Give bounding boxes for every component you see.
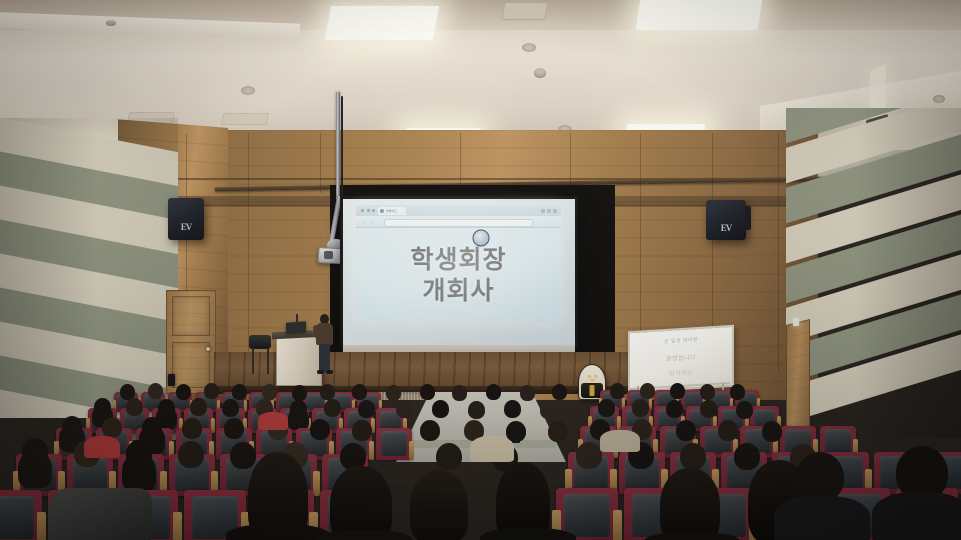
audience-head xyxy=(310,419,330,440)
audience-head xyxy=(224,418,244,439)
audience-head xyxy=(324,399,341,417)
microphone-stand xyxy=(296,314,298,332)
seat[interactable] xyxy=(0,490,42,540)
wood-vertical-seam xyxy=(570,133,571,191)
audience-head xyxy=(292,385,307,401)
ceiling-vent xyxy=(501,2,548,20)
presenter-legs xyxy=(319,344,330,372)
audience-head xyxy=(632,399,649,417)
close-dot-icon[interactable] xyxy=(361,209,364,212)
presenter-shoe xyxy=(326,370,333,374)
door-knob-icon[interactable] xyxy=(206,347,210,351)
whiteboard-line-3: 반가워요 xyxy=(636,367,726,381)
audience-hair xyxy=(288,407,309,430)
audience-hair-foreground xyxy=(410,470,468,540)
ceiling-light xyxy=(325,6,440,40)
left-ev-speaker: EV xyxy=(168,198,204,240)
audience-shoulders-light xyxy=(258,412,288,430)
right-acoustic-wall xyxy=(786,108,961,438)
address-bar[interactable] xyxy=(384,219,533,227)
audience-head xyxy=(386,385,401,401)
seat[interactable] xyxy=(376,428,412,460)
audience-head xyxy=(178,441,204,468)
audience-head xyxy=(540,401,557,419)
audience-shoulders xyxy=(872,492,961,540)
auditorium-scene: EV EV 슬라이드 xyxy=(0,0,961,540)
ev-logo-left: EV xyxy=(168,222,204,232)
maximize-dot-icon[interactable] xyxy=(372,209,375,212)
audience-head xyxy=(126,398,143,416)
audience-head xyxy=(676,420,696,441)
audience-head xyxy=(452,385,467,401)
audience-head xyxy=(504,400,521,418)
phone-icon xyxy=(168,374,175,386)
phone-icon xyxy=(512,430,520,443)
favicon-icon xyxy=(380,209,384,213)
audience-head xyxy=(432,400,449,418)
audience-shoulders-light xyxy=(470,436,514,462)
audience-head xyxy=(176,384,191,400)
audience-head xyxy=(598,399,615,417)
browser-tab-label: 슬라이드 xyxy=(386,210,397,213)
equipment-case-stand xyxy=(252,348,254,374)
audience-head xyxy=(718,420,738,441)
podium-school-emblem xyxy=(472,229,489,246)
audience-head xyxy=(232,384,247,400)
audience-shoulders xyxy=(644,532,740,540)
audience-head xyxy=(468,401,485,419)
browser-tab[interactable]: 슬라이드 xyxy=(378,207,406,215)
right-door-lamp-icon xyxy=(793,318,799,326)
audience-head xyxy=(730,384,745,400)
audience-head xyxy=(734,443,760,470)
minimize-button[interactable] xyxy=(541,209,545,213)
whiteboard-line-1: 신 입생 여러분 xyxy=(636,334,726,348)
right-ev-speaker: EV xyxy=(706,200,746,240)
audience-head xyxy=(230,442,256,469)
ceiling-speaker-icon xyxy=(241,86,255,95)
audience-head xyxy=(358,400,375,418)
ceiling-speaker-icon xyxy=(522,43,536,52)
left-door-panel-upper xyxy=(172,296,210,336)
traffic-lights[interactable] xyxy=(361,209,375,212)
audience-head xyxy=(320,384,335,400)
ceiling-speaker-icon xyxy=(933,95,945,103)
audience-head xyxy=(576,442,602,469)
audience-head xyxy=(552,384,567,400)
draped-coat xyxy=(48,488,152,540)
equipment-case xyxy=(249,335,271,349)
audience-head xyxy=(700,384,715,400)
mascot-tie-icon xyxy=(590,385,595,396)
audience-head xyxy=(640,383,655,399)
audience-head xyxy=(666,400,683,418)
audience-shoulders xyxy=(480,528,576,540)
projector-lens-icon xyxy=(324,251,333,259)
wood-vertical-seam xyxy=(320,133,321,193)
audience-shoulders xyxy=(316,530,412,540)
whiteboard-line-2: 환영합니다 xyxy=(636,352,726,366)
audience-hair xyxy=(122,452,156,492)
audience-shoulders xyxy=(226,524,330,540)
audience-head xyxy=(548,421,568,442)
audience-head xyxy=(486,384,501,400)
wood-vertical-seam xyxy=(460,133,461,191)
close-button[interactable] xyxy=(553,209,557,213)
audience-head xyxy=(352,420,372,441)
projector-pole xyxy=(336,92,340,200)
audience-head-foreground xyxy=(796,452,844,502)
audience-head xyxy=(436,443,462,470)
audience-head xyxy=(148,383,163,399)
equipment-case-stand xyxy=(267,348,269,374)
window-controls[interactable] xyxy=(541,209,557,213)
slide-content: 학생회장 개회사 xyxy=(356,227,561,323)
back-button[interactable]: ‹ xyxy=(363,221,364,224)
projected-browser-window[interactable]: 슬라이드 ‹ › 학생회장 개회사 xyxy=(356,205,561,323)
wood-vertical-seam xyxy=(778,133,779,373)
audience-head xyxy=(520,385,535,401)
audience-head xyxy=(680,443,706,470)
audience-hair-foreground xyxy=(660,468,720,540)
audience-head xyxy=(396,400,413,418)
audience-head xyxy=(182,418,202,439)
mascot-face: ^ᴗ^ xyxy=(588,374,597,383)
audience-head xyxy=(610,383,625,399)
ev-logo-right: EV xyxy=(706,223,746,233)
audience-head xyxy=(102,417,122,438)
audience-head xyxy=(420,420,440,441)
ceiling-light xyxy=(635,0,762,30)
ceiling-sensor-icon xyxy=(534,68,546,78)
audience-shoulders xyxy=(774,496,870,540)
audience-hair-foreground xyxy=(330,466,392,540)
ceiling-vent xyxy=(221,113,270,125)
slide-title-line1: 학생회장 xyxy=(410,247,506,272)
minimize-dot-icon[interactable] xyxy=(367,209,370,212)
audience-head xyxy=(700,400,717,418)
slide-title-line2: 개회사 xyxy=(422,278,494,303)
audience-shoulders-light xyxy=(84,436,120,458)
left-acoustic-wall xyxy=(0,118,178,418)
presenter-shoe xyxy=(317,370,324,374)
audience-head xyxy=(262,384,277,400)
left-door-panel-lower xyxy=(172,342,210,388)
audience-head xyxy=(762,421,782,442)
audience-head xyxy=(204,383,219,399)
audience-hair xyxy=(18,450,52,488)
audience-head xyxy=(352,384,367,400)
ceiling-sensor-icon xyxy=(106,20,116,26)
audience-head xyxy=(222,399,239,417)
audience-shoulders-light xyxy=(600,430,640,452)
maximize-button[interactable] xyxy=(547,209,551,213)
audience-head xyxy=(190,398,207,416)
forward-button[interactable]: › xyxy=(372,221,373,224)
audience-head xyxy=(420,384,435,400)
audience-head xyxy=(670,383,685,399)
audience-head xyxy=(736,401,753,419)
